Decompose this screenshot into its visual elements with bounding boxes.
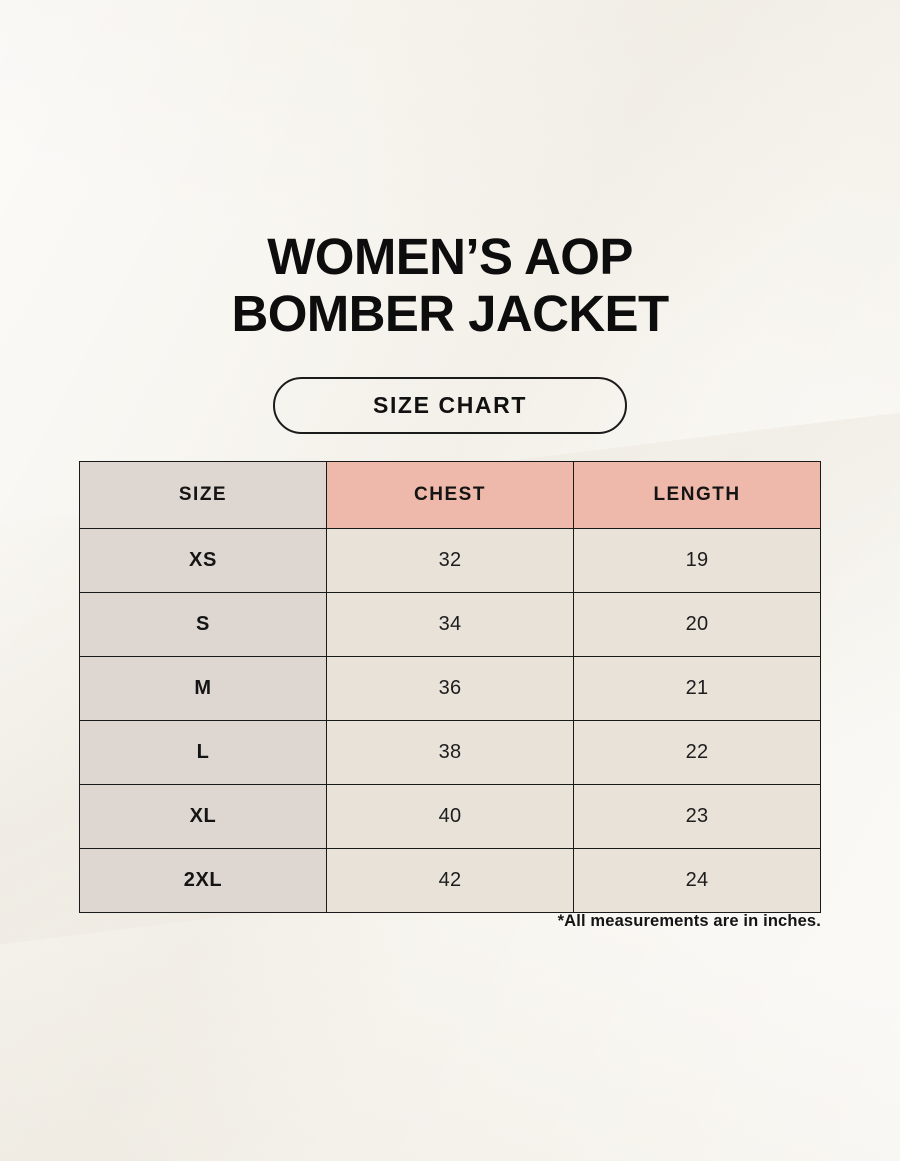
cell-size: M [80,657,327,721]
table-row: 2XL 42 24 [80,849,821,913]
cell-chest: 40 [327,785,574,849]
cell-length: 22 [574,721,821,785]
table-header-row: SIZE CHEST LENGTH [80,462,821,529]
cell-chest: 38 [327,721,574,785]
table-row: M 36 21 [80,657,821,721]
page-title: WOMEN’S AOP BOMBER JACKET [0,228,900,342]
page-title-line-2: BOMBER JACKET [0,285,900,342]
cell-chest: 42 [327,849,574,913]
size-chart-badge-label: SIZE CHART [373,392,527,419]
size-chart-badge: SIZE CHART [273,377,627,434]
cell-chest: 34 [327,593,574,657]
measurements-footnote: *All measurements are in inches. [79,912,821,931]
cell-chest: 36 [327,657,574,721]
page-title-line-1: WOMEN’S AOP [0,228,900,285]
cell-length: 23 [574,785,821,849]
size-chart-badge-wrapper: SIZE CHART [0,377,900,434]
cell-size: XS [80,529,327,593]
size-table-body: XS 32 19 S 34 20 M 36 21 L 38 22 [80,529,821,913]
cell-length: 19 [574,529,821,593]
cell-chest: 32 [327,529,574,593]
cell-size: XL [80,785,327,849]
table-row: XL 40 23 [80,785,821,849]
size-table-head: SIZE CHEST LENGTH [80,462,821,529]
size-table: SIZE CHEST LENGTH XS 32 19 S 34 20 M [79,461,821,913]
cell-size: 2XL [80,849,327,913]
table-row: L 38 22 [80,721,821,785]
size-table-wrapper: SIZE CHEST LENGTH XS 32 19 S 34 20 M [79,461,821,913]
cell-size: L [80,721,327,785]
column-header-length: LENGTH [574,462,821,529]
column-header-chest: CHEST [327,462,574,529]
column-header-size: SIZE [80,462,327,529]
cell-length: 20 [574,593,821,657]
cell-length: 24 [574,849,821,913]
size-chart-page: WOMEN’S AOP BOMBER JACKET SIZE CHART SIZ… [0,0,900,1161]
table-row: S 34 20 [80,593,821,657]
cell-size: S [80,593,327,657]
table-row: XS 32 19 [80,529,821,593]
cell-length: 21 [574,657,821,721]
